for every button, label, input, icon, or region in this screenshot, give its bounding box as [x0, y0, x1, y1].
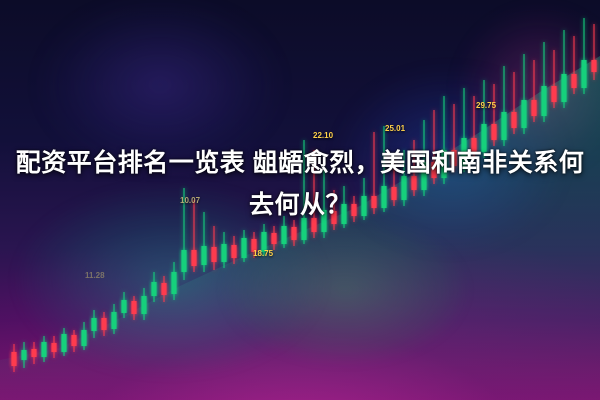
candle	[511, 72, 516, 134]
candle	[551, 50, 556, 108]
candle-body	[71, 335, 76, 346]
headline-overlay: 配资平台排名一览表 龃龉愈烈，美国和南非关系何 去何从？	[0, 142, 600, 226]
candle-body	[591, 60, 596, 72]
candle-body	[191, 250, 196, 266]
candle	[561, 30, 566, 108]
candle-body	[571, 74, 576, 88]
headline-line-2: 去何从？	[10, 184, 590, 226]
candle-body	[81, 330, 86, 346]
candle-body	[231, 245, 236, 258]
candle	[531, 60, 536, 122]
candle	[541, 42, 546, 122]
candle	[491, 84, 496, 146]
candle-body	[221, 244, 226, 262]
candle-body	[11, 352, 16, 366]
candle-body	[521, 100, 526, 128]
candle	[241, 230, 246, 262]
candle-body	[171, 272, 176, 294]
candle-body	[281, 226, 286, 244]
candle-body	[551, 86, 556, 102]
candle	[591, 24, 596, 80]
price-label: 22.10	[313, 131, 333, 140]
candle-body	[531, 100, 536, 116]
area-fill-layer	[0, 56, 600, 400]
candle-body	[41, 342, 46, 357]
price-label: 11.28	[85, 271, 105, 280]
headline-line-1: 配资平台排名一览表 龃龉愈烈，美国和南非关系何	[16, 149, 584, 177]
candle	[571, 36, 576, 94]
candle-body	[541, 86, 546, 116]
candle-body	[291, 227, 296, 240]
candle-body	[31, 349, 36, 357]
candle	[581, 18, 586, 94]
candle-body	[241, 238, 246, 258]
candle-body	[51, 343, 56, 352]
candle-body	[161, 283, 166, 295]
candle-body	[121, 300, 126, 313]
candle-body	[181, 250, 186, 272]
candle-body	[61, 334, 66, 352]
candle-body	[561, 74, 566, 102]
candle-body	[511, 112, 516, 128]
candle-body	[131, 301, 136, 314]
candle	[151, 272, 156, 302]
candle	[501, 66, 506, 146]
candle-body	[201, 246, 206, 265]
candle-body	[151, 282, 156, 296]
candle-body	[91, 318, 96, 331]
candle-body	[271, 233, 276, 244]
candle	[231, 236, 236, 264]
candle	[81, 322, 86, 350]
trend-area	[0, 56, 600, 400]
candle-body	[491, 124, 496, 140]
candle-body	[501, 112, 506, 140]
candle-body	[101, 318, 106, 330]
price-label: 25.01	[385, 124, 405, 133]
price-label: 18.75	[253, 249, 273, 258]
candle	[61, 328, 66, 356]
candle	[521, 54, 526, 134]
candle	[121, 292, 126, 318]
candle-body	[111, 312, 116, 329]
candle-body	[141, 296, 146, 314]
candle	[211, 226, 216, 270]
candle-body	[211, 247, 216, 262]
candle-body	[581, 60, 586, 88]
candle-body	[21, 350, 26, 360]
image-canvas: 29.7525.0122.1018.7510.0711.28 配资平台排名一览表…	[0, 0, 600, 400]
price-label: 29.75	[476, 101, 496, 110]
candle	[221, 232, 226, 268]
